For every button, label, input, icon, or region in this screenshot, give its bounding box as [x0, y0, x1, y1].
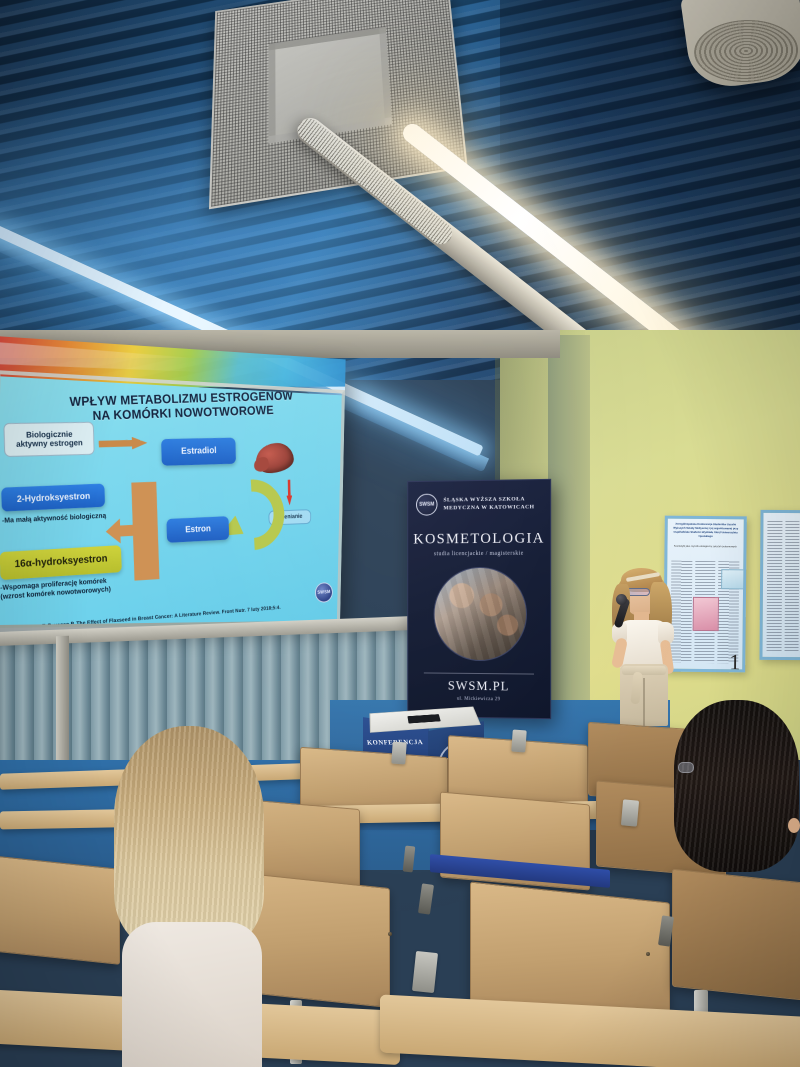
banner-program-subtitle: studia licencjackie / magisterskie — [408, 551, 550, 558]
wall-poster-2[interactable] — [759, 510, 800, 660]
banner-program-title: KOSMETOLOGIA — [408, 530, 550, 548]
speaker-cone-icon — [693, 18, 799, 84]
bench-desktop-front — [380, 994, 800, 1067]
slide-title: WPŁYW METABOLIZMU ESTROGENÓW NA KOMÓRKI … — [23, 388, 334, 425]
slide-box-bio-estrogen: Biologicznie aktywny estrogen — [3, 422, 94, 457]
presenter-belt — [622, 666, 666, 675]
university-seal-icon: SWSM — [416, 494, 438, 516]
presenter-trouser-pleat — [643, 678, 645, 726]
arrow-down-red-icon — [286, 480, 292, 506]
air-vent-inner — [268, 27, 392, 144]
poster-column — [767, 521, 782, 651]
slide-box-2-hydroksyestron: 2-Hydroksyestron — [1, 484, 105, 512]
roll-up-banner: SWSM ŚLĄSKA WYŻSZA SZKOŁA MEDYCZNA W KAT… — [407, 479, 551, 719]
audience-ear — [788, 818, 800, 833]
bench-screw — [646, 952, 650, 956]
bio-estrogen-line-2: aktywny estrogen — [16, 438, 83, 448]
banner-address: ul. Mickiewicza 29 — [408, 696, 550, 703]
presentation-slide: WPŁYW METABOLIZMU ESTROGENÓW NA KOMÓRKI … — [0, 376, 345, 628]
poster-column — [784, 521, 799, 651]
audience-glasses-icon — [678, 762, 694, 773]
poster-figure-chart — [721, 569, 745, 589]
ballot-slot — [408, 714, 441, 724]
poster-subheader: Kosmetyki jako czynnik etiologiczny zaka… — [671, 545, 739, 549]
university-name-line-2: MEDYCZNA W KATOWICACH — [443, 503, 534, 512]
poster-number: 1 — [729, 651, 740, 672]
lecture-hall-photo: XII Ogólnopolska Konferencja Studentów U… — [0, 0, 800, 1067]
banner-photo-circle — [434, 567, 527, 662]
curved-arrow-green-icon — [207, 465, 297, 565]
audience-member-blonde — [96, 726, 276, 1067]
bench-screw — [388, 932, 392, 936]
university-name: ŚLĄSKA WYŻSZA SZKOŁA MEDYCZNA W KATOWICA… — [443, 495, 534, 512]
slide-box-estradiol: Estradiol — [161, 438, 236, 466]
banner-website: SWSM.PL — [408, 678, 550, 695]
banner-divider — [424, 672, 534, 674]
swsm-logo-icon: SWSM — [315, 582, 333, 603]
slide-box-estron: Estron — [166, 516, 229, 543]
poster-figure-illustration — [693, 597, 719, 631]
poster-header: XII Ogólnopolska Konferencja Studentów U… — [672, 523, 740, 539]
audience-shirt — [122, 922, 262, 1067]
banner-header: SWSM ŚLĄSKA WYŻSZA SZKOŁA MEDYCZNA W KAT… — [416, 490, 542, 518]
slide-note-2-hydroksyestron: -Ma małą aktywność biologiczną — [2, 510, 142, 525]
audience-hair — [114, 726, 264, 952]
projection-screen: WPŁYW METABOLIZMU ESTROGENÓW NA KOMÓRKI … — [0, 336, 346, 636]
wall-corner — [548, 335, 590, 755]
audience-member-dark-hair — [664, 700, 800, 900]
slide-box-16a-hydroksyestron: 16α-hydroksyestron — [0, 545, 122, 580]
bench-bracket — [511, 730, 527, 753]
bench-hinge — [418, 883, 434, 914]
poster-columns — [767, 521, 800, 651]
arrow-right-icon — [98, 437, 147, 451]
bench-bracket — [391, 742, 407, 765]
bench-bracket — [412, 951, 438, 993]
microphone-head-icon — [616, 594, 627, 605]
bench-bracket — [621, 799, 639, 826]
audience-hair — [674, 700, 799, 872]
